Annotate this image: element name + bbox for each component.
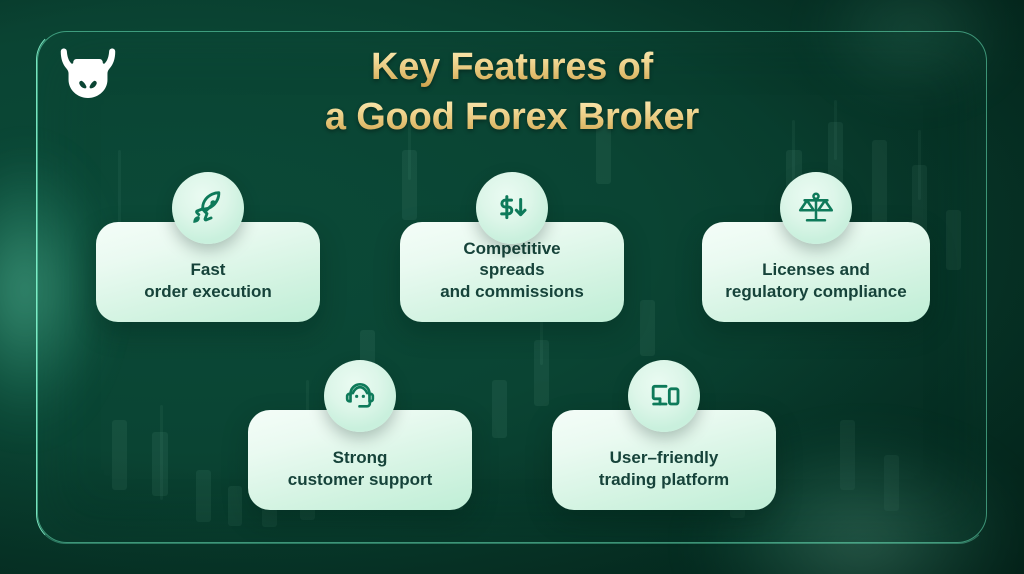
headset-support-agent-icon [324, 360, 396, 432]
feature-card-label: Fast order execution [132, 259, 284, 322]
devices-monitor-phone-icon [628, 360, 700, 432]
feature-card-label: Licenses and regulatory compliance [713, 259, 918, 322]
title-line-1: Key Features of [0, 42, 1024, 92]
rocket-icon [172, 172, 244, 244]
dollar-down-arrow-icon [476, 172, 548, 244]
feature-card-label: User–friendly trading platform [587, 447, 741, 510]
feature-card-label: Competitive spreads and commissions [428, 238, 596, 322]
balance-scales-icon [780, 172, 852, 244]
title-line-2: a Good Forex Broker [0, 92, 1024, 142]
infographic-canvas: Key Features of a Good Forex Broker Fast… [0, 0, 1024, 574]
page-title: Key Features of a Good Forex Broker [0, 42, 1024, 142]
feature-card-label: Strong customer support [276, 447, 445, 510]
